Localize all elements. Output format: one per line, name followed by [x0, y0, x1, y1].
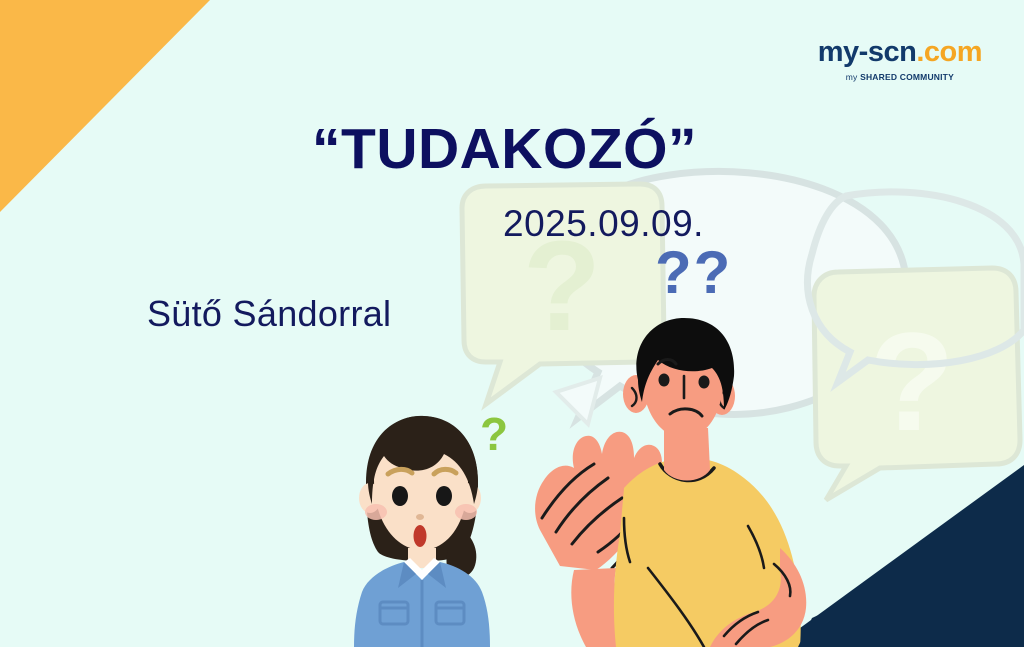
page-title: “TUDAKOZÓ” — [312, 121, 697, 178]
bubble-green-right: ? — [814, 268, 1020, 500]
faint-question-mark: ? — [869, 303, 955, 460]
illustration-puzzled-woman — [348, 412, 518, 647]
blue-double-question-mark: ?? — [655, 243, 732, 303]
logo-wordmark: my-scn.com — [818, 38, 982, 67]
orange-corner-wedge — [0, 0, 210, 212]
logo-tagline: my SHARED COMMUNITY — [818, 73, 982, 82]
slide-canvas: ? ? my-scn.com my SHARED COMMUNITY “TUDA… — [0, 0, 1024, 647]
logo-tagline-my: my — [846, 72, 860, 82]
guest-name-subtitle: Sütő Sándorral — [147, 296, 391, 332]
site-logo[interactable]: my-scn.com my SHARED COMMUNITY — [818, 38, 982, 82]
illustration-confused-man — [512, 318, 842, 647]
logo-text-my: my — [818, 36, 859, 68]
logo-text-scn: -scn — [859, 36, 917, 68]
logo-tagline-rest: SHARED COMMUNITY — [860, 72, 954, 82]
logo-text-com: .com — [916, 36, 982, 68]
event-date: 2025.09.09. — [503, 205, 704, 242]
